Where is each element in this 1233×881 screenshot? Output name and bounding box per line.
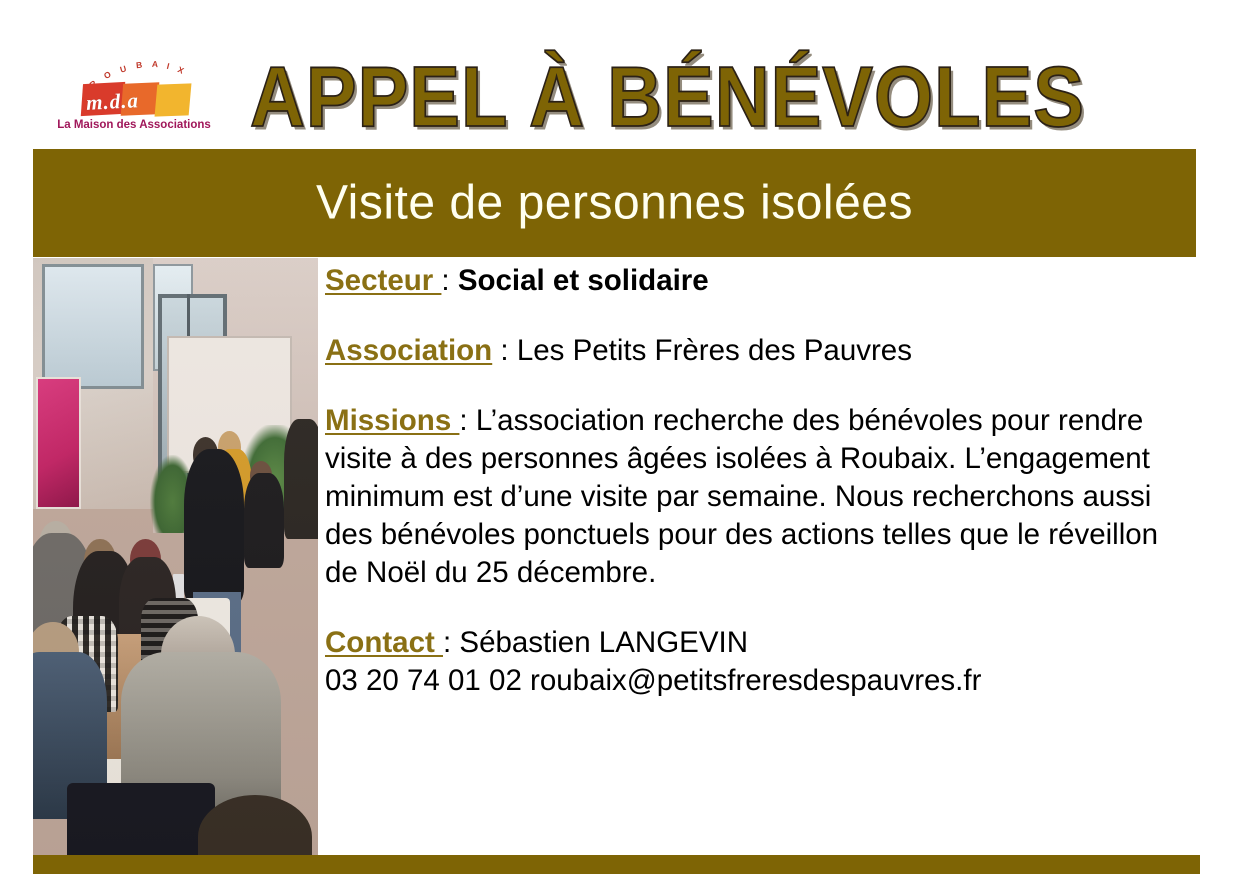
event-photo [33,258,318,855]
poster-header: R O U B A I X m.d.a La Maison des Associ… [0,0,1233,150]
subtitle-banner: Visite de personnes isolées [33,149,1196,257]
field-missions: Missions : L’association recherche des b… [325,402,1175,592]
separator-secteur: : [441,264,457,297]
label-secteur: Secteur [325,264,441,297]
photo-overlay [33,258,318,855]
logo-monogram: m.d.a [85,82,196,118]
field-secteur: Secteur : Social et solidaire [325,262,1175,300]
field-contact: Contact : Sébastien LANGEVIN 03 20 74 01… [325,624,1175,700]
poster-body: Secteur : Social et solidaire Associatio… [325,262,1175,700]
label-missions: Missions [325,404,459,437]
value-contact-name: Sébastien LANGEVIN [459,626,748,659]
separator-missions: : [459,404,475,437]
field-association: Association : Les Petits Frères des Pauv… [325,332,1175,370]
subtitle-text: Visite de personnes isolées [33,176,1196,231]
label-association: Association [325,334,492,367]
mda-logo: R O U B A I X m.d.a La Maison des Associ… [46,57,222,139]
separator-contact: : [443,626,459,659]
separator-association: : [492,334,517,367]
value-association: Les Petits Frères des Pauvres [517,334,912,367]
label-contact: Contact [325,626,443,659]
footer-bar [33,855,1200,874]
value-secteur: Social et solidaire [458,264,709,297]
logo-caption: La Maison des Associations [46,119,222,131]
value-contact-phone-email: 03 20 74 01 02 roubaix@petitsfreresdespa… [325,664,981,697]
page-title: APPEL À BÉNÉVOLES [250,46,1210,149]
